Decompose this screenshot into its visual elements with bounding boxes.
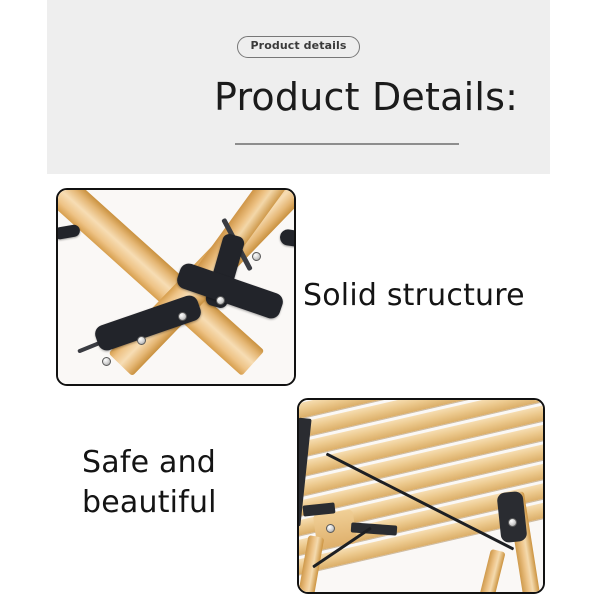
product-photo-canvas <box>299 400 543 592</box>
title-underline-rule <box>235 143 459 145</box>
bolt-icon <box>252 252 261 261</box>
bolt-icon <box>178 312 187 321</box>
bracket-edge-icon <box>56 224 81 240</box>
header-panel: Product details Product Details: <box>47 0 550 174</box>
bolt-icon <box>137 336 146 345</box>
product-image-solid-structure[interactable] <box>56 188 296 386</box>
bolt-icon <box>508 518 517 527</box>
bolt-icon <box>216 296 225 305</box>
badge-row: Product details <box>47 34 550 58</box>
page-title: Product Details: <box>214 76 518 120</box>
bolt-icon <box>326 524 335 533</box>
product-image-safe-and-beautiful[interactable] <box>297 398 545 594</box>
product-photo-canvas <box>58 190 294 384</box>
table-leg-icon <box>479 549 505 594</box>
caption-solid-structure: Solid structure <box>303 276 525 316</box>
product-details-badge: Product details <box>237 36 361 58</box>
caption-safe-and-beautiful: Safe and beautiful <box>82 443 217 523</box>
bracket-hinge-icon <box>496 491 527 543</box>
bolt-icon <box>102 357 111 366</box>
bracket-edge-icon <box>279 228 296 247</box>
